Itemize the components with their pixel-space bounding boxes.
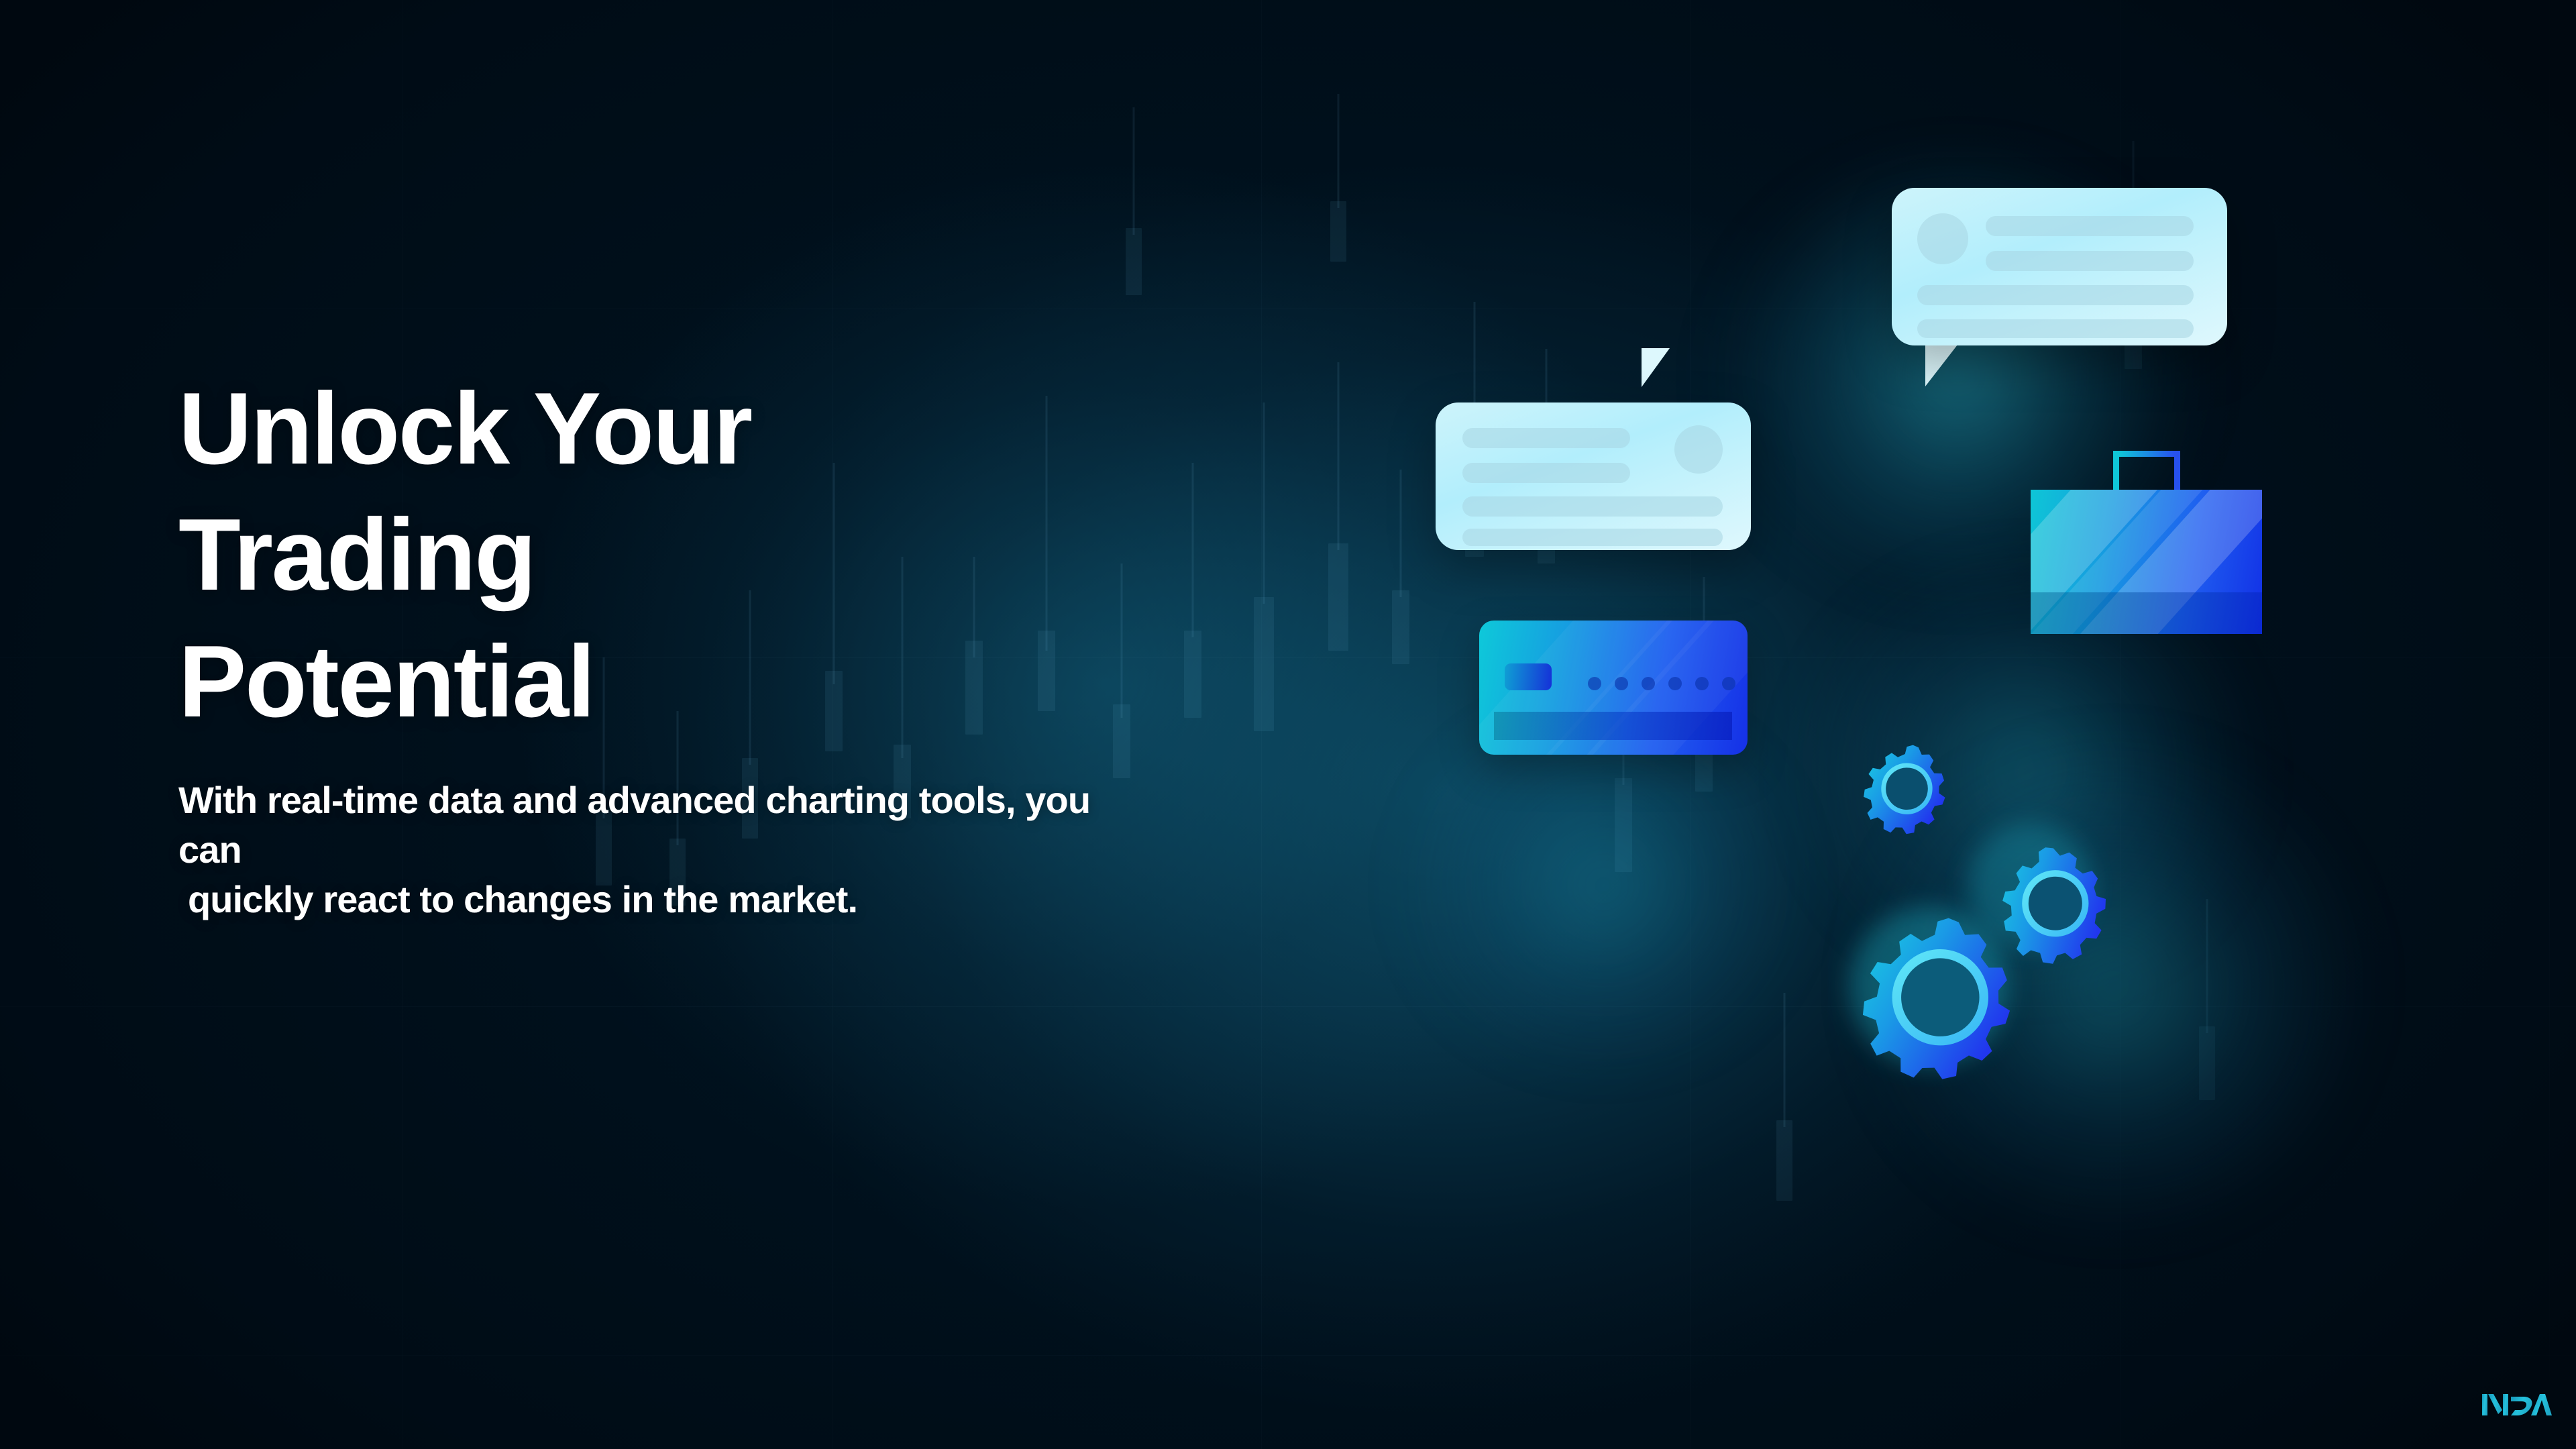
- brand-logo[interactable]: [2482, 1387, 2552, 1417]
- text-line: [1462, 463, 1630, 483]
- card-number-dot: [1695, 677, 1709, 690]
- avatar: [1917, 213, 1968, 264]
- text-line: [1917, 285, 2194, 305]
- card-number-dot: [1588, 677, 1601, 690]
- chat-bubble-tail-left: [1642, 348, 1670, 387]
- gear-small: [1860, 739, 1952, 839]
- card-number-dot: [1722, 677, 1735, 690]
- chat-bubble-incoming[interactable]: [1892, 188, 2227, 345]
- briefcase-body: [2031, 490, 2262, 634]
- glow-card: [1395, 711, 1811, 1060]
- text-line: [1462, 428, 1630, 448]
- gears-svg: [1828, 724, 2150, 1087]
- headline-line-3: Potential: [178, 619, 1118, 745]
- hero-banner: Unlock Your Trading Potential With real-…: [0, 0, 2576, 1449]
- subtitle-line-2: quickly react to changes in the market.: [178, 875, 1118, 924]
- page-title: Unlock Your Trading Potential: [178, 366, 1118, 745]
- chat-bubble-outgoing[interactable]: [1436, 402, 1751, 550]
- hero-subtitle: With real-time data and advanced chartin…: [178, 775, 1118, 924]
- mda-logo-icon: [2482, 1387, 2552, 1417]
- headline-line-1: Unlock Your: [178, 366, 1118, 492]
- hero-illustration: [1442, 201, 2301, 1207]
- subtitle-line-1: With real-time data and advanced chartin…: [178, 775, 1118, 875]
- text-line: [1462, 496, 1723, 517]
- card-number-dot: [1615, 677, 1628, 690]
- text-line: [1917, 319, 2194, 338]
- headline-line-2: Trading: [178, 492, 1118, 618]
- text-line: [1986, 251, 2194, 271]
- text-line: [1462, 529, 1723, 546]
- avatar: [1674, 425, 1723, 474]
- card-number-dots: [1588, 677, 1735, 690]
- briefcase-handle-icon: [2113, 451, 2180, 495]
- card-magnetic-stripe: [1494, 712, 1732, 740]
- card-number-dot: [1668, 677, 1682, 690]
- card-number-dot: [1642, 677, 1655, 690]
- hero-copy: Unlock Your Trading Potential With real-…: [178, 366, 1118, 924]
- card-chip-icon: [1505, 663, 1552, 690]
- gears-icon[interactable]: [1828, 724, 2150, 1087]
- text-line: [1986, 216, 2194, 236]
- briefcase-lower-band: [2031, 592, 2262, 634]
- briefcase-icon[interactable]: [2031, 490, 2262, 634]
- credit-card-icon[interactable]: [1479, 621, 1748, 755]
- chat-bubble-tail-top: [1925, 345, 1957, 386]
